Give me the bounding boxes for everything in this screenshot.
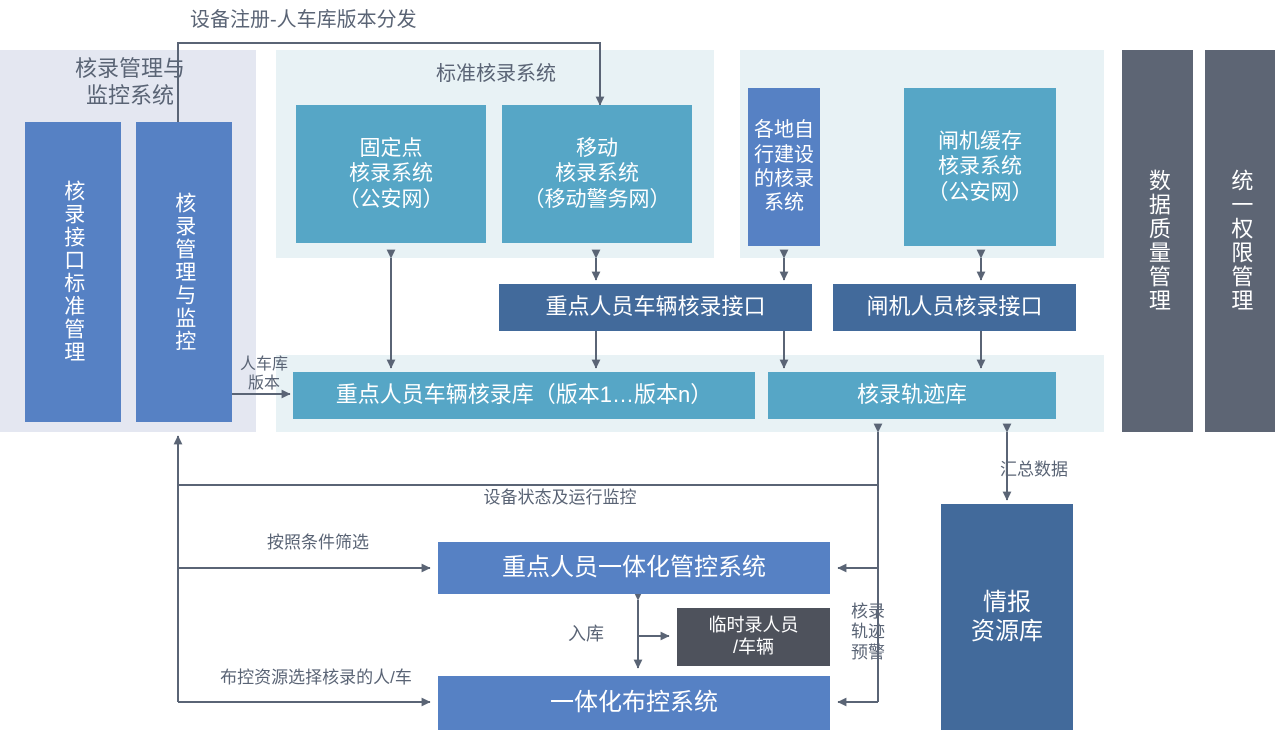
box-gate-person-api-label: 闸机人员核录接口	[866, 294, 1042, 321]
box-key-person-vehicle-api[interactable]: 重点人员车辆核录接口	[499, 284, 812, 331]
edge-label-trace-alert: 核录 轨迹 预警	[846, 602, 890, 663]
edge-label-aggregate-data: 汇总数据	[1000, 460, 1100, 480]
box-unified-auth-management[interactable]: 统一权限管理	[1205, 50, 1275, 432]
box-key-person-vehicle-db-label: 重点人员车辆核录库（版本1…版本n）	[336, 382, 712, 409]
box-gate-cache-system-label: 闸机缓存 核录系统 （公安网）	[928, 129, 1033, 206]
box-temp-record-label: 临时录人员 /车辆	[709, 615, 799, 659]
box-intel-resource-db[interactable]: 情报 资源库	[941, 504, 1073, 730]
box-data-quality-management-label: 数据质量管理	[1144, 169, 1171, 313]
panel-management-title: 核录管理与 监控系统	[40, 56, 220, 110]
box-fixed-point-system[interactable]: 固定点 核录系统 （公安网）	[296, 105, 486, 243]
box-key-person-control-system-label: 重点人员一体化管控系统	[502, 553, 766, 582]
box-unified-deploy-system[interactable]: 一体化布控系统	[438, 676, 830, 730]
edge-label-device-status: 设备状态及运行监控	[440, 488, 680, 508]
edge-label-filter-by-condition: 按照条件筛选	[228, 533, 408, 553]
edge-label-person-vehicle-version: 人车库 版本	[228, 355, 300, 393]
box-local-built-system[interactable]: 各地自 行建设 的核录 系统	[748, 88, 820, 246]
box-mobile-system[interactable]: 移动 核录系统 （移动警务网）	[502, 105, 692, 243]
box-unified-auth-management-label: 统一权限管理	[1227, 169, 1254, 313]
top-flow-label: 设备注册-人车库版本分发	[190, 8, 530, 32]
panel-standard-title: 标准核录系统	[300, 62, 692, 86]
box-gate-cache-system[interactable]: 闸机缓存 核录系统 （公安网）	[904, 88, 1056, 246]
box-key-person-control-system[interactable]: 重点人员一体化管控系统	[438, 542, 830, 594]
architecture-diagram: 核录管理与 监控系统 标准核录系统 设备注册-人车库版本分发 核录接口标准管理 …	[0, 0, 1275, 732]
box-key-person-vehicle-api-label: 重点人员车辆核录接口	[545, 294, 765, 321]
box-record-mgmt-monitor[interactable]: 核录管理与监控	[136, 122, 232, 422]
box-interface-standard-mgmt-label: 核录接口标准管理	[60, 180, 86, 364]
box-intel-resource-db-label: 情报 资源库	[971, 588, 1043, 647]
box-trace-db[interactable]: 核录轨迹库	[768, 372, 1056, 419]
box-local-built-system-label: 各地自 行建设 的核录 系统	[754, 118, 814, 216]
box-key-person-vehicle-db[interactable]: 重点人员车辆核录库（版本1…版本n）	[293, 372, 755, 419]
box-data-quality-management[interactable]: 数据质量管理	[1122, 50, 1193, 432]
edge-label-enter-db: 入库	[556, 624, 616, 646]
box-unified-deploy-system-label: 一体化布控系统	[550, 688, 718, 717]
box-record-mgmt-monitor-label: 核录管理与监控	[171, 192, 197, 353]
box-trace-db-label: 核录轨迹库	[857, 382, 967, 409]
box-fixed-point-system-label: 固定点 核录系统 （公安网）	[339, 136, 444, 213]
box-interface-standard-mgmt[interactable]: 核录接口标准管理	[25, 122, 121, 422]
edge-label-select-resource: 布控资源选择核录的人/车	[196, 668, 436, 688]
box-gate-person-api[interactable]: 闸机人员核录接口	[833, 284, 1076, 331]
box-temp-record[interactable]: 临时录人员 /车辆	[677, 608, 830, 666]
box-mobile-system-label: 移动 核录系统 （移动警务网）	[524, 136, 671, 213]
